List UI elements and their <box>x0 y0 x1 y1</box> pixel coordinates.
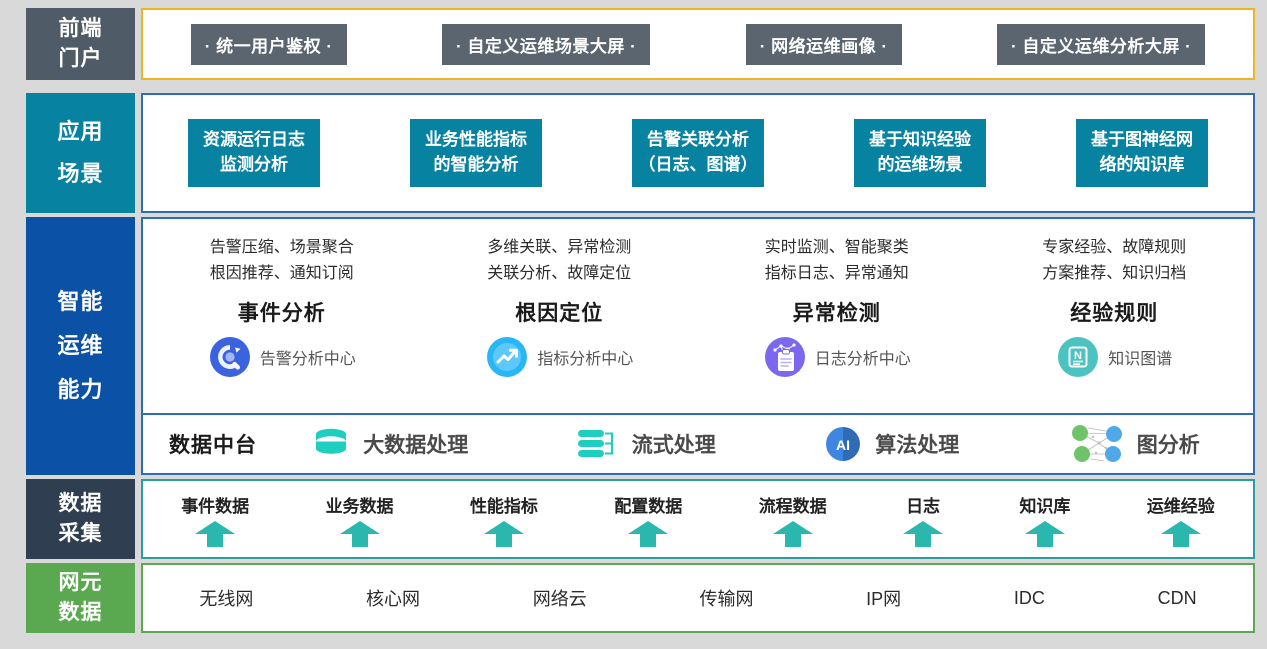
network-element-wireless[interactable]: 无线网 <box>199 585 253 611</box>
mid-platform-item-algorithm[interactable]: AI 算法处理 <box>822 424 959 464</box>
layer-application-scenario: 应用 场景 资源运行日志 监测分析 业务性能指标 的智能分析 告警关联分析 （日… <box>26 93 1255 213</box>
collect-item-label: 知识库 <box>1019 492 1070 517</box>
layer-label-network-element-data: 网元 数据 <box>26 563 135 633</box>
layer-label-front-portal: 前端 门户 <box>26 8 135 80</box>
mid-platform-item-label: 流式处理 <box>632 429 716 459</box>
data-mid-platform-items: 大数据处理 流式处理 <box>257 423 1253 465</box>
capability-feature-line: 实时监测、智能聚类 <box>765 235 909 261</box>
up-arrow-icon <box>195 521 235 547</box>
collect-item-label: 配置数据 <box>614 492 682 517</box>
scenario-card-line: 基于知识经验 <box>869 128 971 153</box>
scenario-card-line: 告警关联分析 <box>647 128 749 153</box>
capability-feature-line: 关联分析、故障定位 <box>487 261 631 287</box>
scenario-card-line: 的运维场景 <box>878 153 963 178</box>
collect-item-log[interactable]: 日志 <box>903 492 943 547</box>
database-cylinder-icon <box>310 427 352 461</box>
layer-label-aiops-capability: 智能 运维 能力 <box>26 217 135 475</box>
layer-label-line: 场景 <box>57 158 103 190</box>
data-collection-content: 事件数据 业务数据 性能指标 配置数据 流程数据 日志 <box>141 479 1255 559</box>
mid-platform-item-label: 大数据处理 <box>363 429 468 459</box>
collect-item-performance-metric[interactable]: 性能指标 <box>470 492 538 547</box>
scenario-card-line: 资源运行日志 <box>203 128 305 153</box>
layer-label-line: 前端 <box>59 14 103 44</box>
layer-label-application-scenario: 应用 场景 <box>26 93 135 213</box>
aiops-content: 告警压缩、场景聚合 根因推荐、通知订阅 事件分析 <box>141 217 1255 475</box>
capability-feature-line: 多维关联、异常检测 <box>487 235 631 261</box>
stream-stack-icon <box>575 426 621 462</box>
up-arrow-icon <box>1025 521 1065 547</box>
capability-product[interactable]: N 知识图谱 <box>1056 335 1172 379</box>
network-element-core[interactable]: 核心网 <box>366 585 420 611</box>
capability-feature-line: 专家经验、故障规则 <box>1042 235 1186 261</box>
collect-item-config-data[interactable]: 配置数据 <box>614 492 682 547</box>
capability-feature-line: 指标日志、异常通知 <box>765 261 909 287</box>
capability-product-label: 告警分析中心 <box>260 345 356 369</box>
up-arrow-icon <box>628 521 668 547</box>
capability-feature-line: 告警压缩、场景聚合 <box>210 235 354 261</box>
portal-chip-custom-analysis-dashboard[interactable]: · 自定义运维分析大屏 · <box>997 24 1205 65</box>
capability-product[interactable]: 告警分析中心 <box>208 335 356 379</box>
layer-label-line: 应用 <box>57 116 103 148</box>
collect-item-business-data[interactable]: 业务数据 <box>326 492 394 547</box>
layer-label-line: 运维 <box>57 330 103 362</box>
capability-column-event-analysis: 告警压缩、场景聚合 根因推荐、通知订阅 事件分析 <box>157 235 407 379</box>
capability-column-root-cause: 多维关联、异常检测 关联分析、故障定位 根因定位 指标分析中心 <box>434 235 684 379</box>
scenario-card-line: （日志、图谱） <box>639 153 758 178</box>
layer-label-line: 能力 <box>57 374 103 406</box>
network-element-cloud[interactable]: 网络云 <box>533 585 587 611</box>
scenario-card-resource-log[interactable]: 资源运行日志 监测分析 <box>188 119 320 187</box>
mid-platform-item-label: 算法处理 <box>875 429 959 459</box>
network-element-idc[interactable]: IDC <box>1014 588 1045 609</box>
collect-item-label: 事件数据 <box>181 492 249 517</box>
mid-platform-item-graph[interactable]: 图分析 <box>1066 423 1200 465</box>
portal-chip-unified-auth[interactable]: · 统一用户鉴权 · <box>191 24 347 65</box>
scenario-card-business-performance[interactable]: 业务性能指标 的智能分析 <box>410 119 542 187</box>
svg-text:AI: AI <box>836 437 850 453</box>
layer-label-line: 数据 <box>59 489 103 519</box>
collect-item-process-data[interactable]: 流程数据 <box>759 492 827 547</box>
capability-product[interactable]: 指标分析中心 <box>485 335 633 379</box>
collect-item-ops-experience[interactable]: 运维经验 <box>1147 492 1215 547</box>
network-element-cdn[interactable]: CDN <box>1158 588 1197 609</box>
scenario-card-graph-neural-network[interactable]: 基于图神经网 络的知识库 <box>1076 119 1208 187</box>
ai-circle-icon: AI <box>822 424 864 464</box>
collect-item-label: 流程数据 <box>759 492 827 517</box>
network-element-content: 无线网 核心网 网络云 传输网 IP网 IDC CDN <box>141 563 1255 633</box>
mid-platform-item-label: 图分析 <box>1137 429 1200 459</box>
layer-label-line: 数据 <box>59 598 103 628</box>
data-mid-platform-title: 数据中台 <box>169 429 257 459</box>
collect-item-label: 运维经验 <box>1147 492 1215 517</box>
up-arrow-icon <box>903 521 943 547</box>
svg-text:N: N <box>1074 350 1082 362</box>
layer-label-line: 采集 <box>59 519 103 549</box>
layer-network-element-data: 网元 数据 无线网 核心网 网络云 传输网 IP网 IDC CDN <box>26 563 1255 633</box>
capability-title: 经验规则 <box>1070 297 1158 327</box>
up-arrow-icon <box>484 521 524 547</box>
front-portal-content: · 统一用户鉴权 · · 自定义运维场景大屏 · · 网络运维画像 · · 自定… <box>141 8 1255 80</box>
log-analysis-icon <box>763 335 807 379</box>
layer-aiops-capability: 智能 运维 能力 告警压缩、场景聚合 根因推荐、通知订阅 事件分析 <box>26 217 1255 475</box>
capability-feature-line: 根因推荐、通知订阅 <box>210 261 354 287</box>
capability-product-label: 日志分析中心 <box>815 345 911 369</box>
scenario-card-line: 基于图神经网 <box>1091 128 1193 153</box>
knowledge-graph-icon: N <box>1056 335 1100 379</box>
mid-platform-item-bigdata[interactable]: 大数据处理 <box>310 427 468 461</box>
collect-item-label: 性能指标 <box>470 492 538 517</box>
capability-product-label: 指标分析中心 <box>537 345 633 369</box>
data-mid-platform-strip: 数据中台 大数据处理 <box>141 415 1255 475</box>
scenario-card-line: 络的知识库 <box>1100 153 1185 178</box>
portal-chip-custom-ops-dashboard[interactable]: · 自定义运维场景大屏 · <box>442 24 650 65</box>
capability-column-anomaly-detection: 实时监测、智能聚类 指标日志、异常通知 异常检测 <box>712 235 962 379</box>
capability-product[interactable]: 日志分析中心 <box>763 335 911 379</box>
layer-front-portal: 前端 门户 · 统一用户鉴权 · · 自定义运维场景大屏 · · 网络运维画像 … <box>26 8 1255 80</box>
scenario-card-alarm-correlation[interactable]: 告警关联分析 （日志、图谱） <box>632 119 764 187</box>
capability-title: 根因定位 <box>515 297 603 327</box>
capability-title: 异常检测 <box>793 297 881 327</box>
network-element-ip[interactable]: IP网 <box>866 585 901 611</box>
graph-network-icon <box>1066 423 1126 465</box>
scenario-card-line: 的智能分析 <box>434 153 519 178</box>
architecture-diagram: 前端 门户 · 统一用户鉴权 · · 自定义运维场景大屏 · · 网络运维画像 … <box>0 0 1267 649</box>
collect-item-label: 业务数据 <box>326 492 394 517</box>
layer-label-line: 智能 <box>57 286 103 318</box>
collect-item-event-data[interactable]: 事件数据 <box>181 492 249 547</box>
layer-label-line: 网元 <box>59 568 103 598</box>
alarm-analysis-icon <box>208 335 252 379</box>
layer-label-data-collection: 数据 采集 <box>26 479 135 559</box>
scenario-card-line: 业务性能指标 <box>425 128 527 153</box>
collect-item-label: 日志 <box>906 492 940 517</box>
capability-product-label: 知识图谱 <box>1108 345 1172 369</box>
layer-label-line: 门户 <box>59 44 103 74</box>
layer-data-collection: 数据 采集 事件数据 业务数据 性能指标 配置数据 流程数据 <box>26 479 1255 559</box>
scenario-card-knowledge-experience[interactable]: 基于知识经验 的运维场景 <box>854 119 986 187</box>
metric-analysis-icon <box>485 335 529 379</box>
up-arrow-icon <box>340 521 380 547</box>
mid-platform-item-stream[interactable]: 流式处理 <box>575 426 716 462</box>
aiops-capability-columns: 告警压缩、场景聚合 根因推荐、通知订阅 事件分析 <box>141 217 1255 415</box>
up-arrow-icon <box>773 521 813 547</box>
application-scenario-content: 资源运行日志 监测分析 业务性能指标 的智能分析 告警关联分析 （日志、图谱） … <box>141 93 1255 213</box>
portal-chip-network-ops-profile[interactable]: · 网络运维画像 · <box>746 24 902 65</box>
collect-item-knowledge-base[interactable]: 知识库 <box>1019 492 1070 547</box>
capability-column-experience-rule: 专家经验、故障规则 方案推荐、知识归档 经验规则 N <box>989 235 1239 379</box>
capability-title: 事件分析 <box>238 297 326 327</box>
up-arrow-icon <box>1161 521 1201 547</box>
scenario-card-line: 监测分析 <box>220 153 288 178</box>
capability-feature-line: 方案推荐、知识归档 <box>1042 261 1186 287</box>
network-element-transport[interactable]: 传输网 <box>699 585 753 611</box>
